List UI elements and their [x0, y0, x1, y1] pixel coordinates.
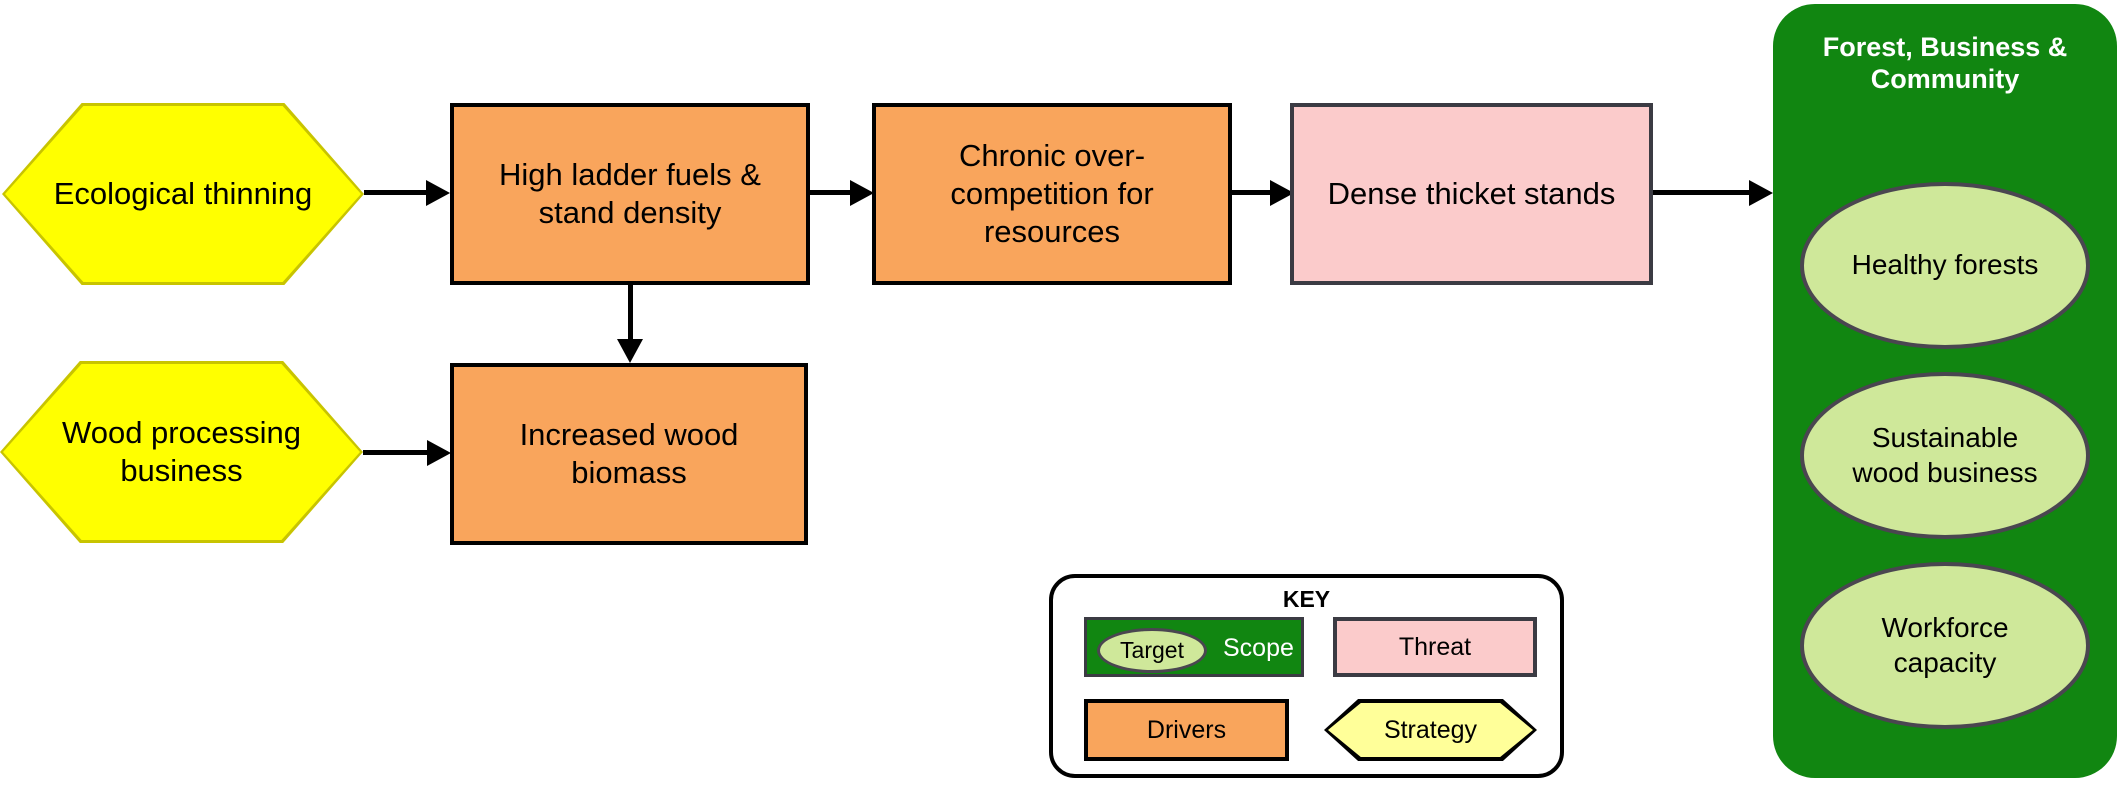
diagram-canvas: Ecological thinning High ladder fuels & … — [0, 0, 2127, 786]
arrow-head — [427, 440, 451, 466]
key-title: KEY — [1053, 586, 1560, 613]
strategy-node-fill — [3, 364, 360, 540]
key-legend-panel: KEY Target Scope Threat Drivers Strategy — [1049, 574, 1564, 778]
key-item-strategy-label: Strategy — [1384, 716, 1477, 745]
strategy-node-wood-processing-business[interactable]: Wood processing business — [0, 361, 363, 543]
arrow-high-ladder-fuels-to-increased-wood-biomass — [617, 285, 643, 365]
arrow-shaft — [363, 450, 431, 455]
arrow-head — [850, 180, 874, 206]
threat-label-dense-thicket-stands: Dense thicket stands — [1294, 107, 1649, 281]
key-item-drivers-label: Drivers — [1147, 716, 1226, 745]
target-node-healthy-forests[interactable]: Healthy forests — [1800, 182, 2090, 349]
key-item-scope[interactable]: Target Scope — [1084, 617, 1304, 677]
key-item-threat-label: Threat — [1399, 633, 1471, 662]
arrow-head — [1749, 180, 1773, 206]
strategy-node-fill — [5, 106, 361, 282]
key-item-strategy[interactable]: Strategy — [1324, 699, 1537, 761]
arrow-chronic-over-competition-to-dense-thicket-stands — [1232, 180, 1294, 206]
key-item-strategy-fill: Strategy — [1328, 703, 1533, 757]
driver-label-increased-wood-biomass: Increased wood biomass — [454, 367, 804, 541]
driver-label-chronic-over-competition: Chronic over- competition for resources — [876, 107, 1228, 281]
arrow-shaft — [1653, 190, 1753, 195]
key-item-target-label: Target — [1120, 637, 1184, 664]
driver-node-high-ladder-fuels[interactable]: High ladder fuels & stand density — [450, 103, 810, 285]
key-item-drivers[interactable]: Drivers — [1084, 699, 1289, 761]
scope-title: Forest, Business & Community — [1773, 32, 2117, 96]
driver-node-increased-wood-biomass[interactable]: Increased wood biomass — [450, 363, 808, 545]
target-node-workforce-capacity[interactable]: Workforce capacity — [1800, 562, 2090, 729]
arrow-shaft — [628, 285, 633, 343]
target-label-sustainable-wood-business: Sustainable wood business — [1804, 376, 2086, 535]
strategy-node-ecological-thinning[interactable]: Ecological thinning — [2, 103, 364, 285]
arrow-head — [426, 180, 450, 206]
driver-label-high-ladder-fuels: High ladder fuels & stand density — [454, 107, 806, 281]
arrow-shaft — [364, 190, 428, 195]
key-item-threat[interactable]: Threat — [1333, 617, 1537, 677]
target-node-sustainable-wood-business[interactable]: Sustainable wood business — [1800, 372, 2090, 539]
target-label-healthy-forests: Healthy forests — [1804, 186, 2086, 345]
arrow-dense-thicket-stands-to-forest-business-community — [1653, 180, 1775, 206]
arrow-shaft — [810, 190, 854, 195]
arrow-wood-processing-business-to-increased-wood-biomass — [363, 440, 453, 466]
key-item-target[interactable]: Target — [1097, 628, 1207, 673]
key-item-scope-label: Scope — [1223, 634, 1294, 663]
threat-node-dense-thicket-stands[interactable]: Dense thicket stands — [1290, 103, 1653, 285]
driver-node-chronic-over-competition[interactable]: Chronic over- competition for resources — [872, 103, 1232, 285]
arrow-shaft — [1232, 190, 1274, 195]
arrow-head — [617, 339, 643, 363]
target-label-workforce-capacity: Workforce capacity — [1804, 566, 2086, 725]
scope-node-forest-business-community[interactable]: Forest, Business & Community Healthy for… — [1773, 4, 2117, 778]
arrow-high-ladder-fuels-to-chronic-over-competition — [810, 180, 874, 206]
arrow-ecological-thinning-to-high-ladder-fuels — [364, 180, 450, 206]
